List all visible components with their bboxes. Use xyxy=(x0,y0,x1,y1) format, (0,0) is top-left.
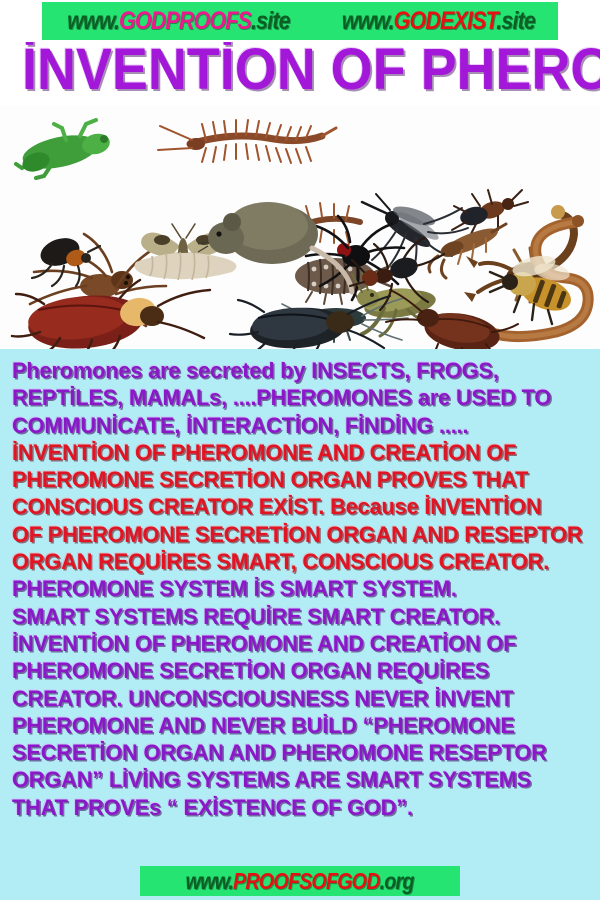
url-proofsofgod[interactable]: www.PROOFSOFGOD.org xyxy=(186,870,414,893)
url-suffix: .site xyxy=(496,7,535,35)
message-line: SMART SYSTEMS REQUİRE SMART CREATOR. xyxy=(12,603,594,630)
message-line: CONSCIOUS CREATOR EXİST. Because İNVENTİ… xyxy=(12,493,594,520)
message-lines: Pheromones are secreted by INSECTS, FROG… xyxy=(12,357,600,821)
message-line: COMMUNİCATE, İNTERACTİON, FİNDİNG ..... xyxy=(12,412,594,439)
flea-icon-2 xyxy=(32,233,100,286)
top-url-banner: www.GODPROOFS.site www.GODEXIST.site xyxy=(42,2,558,40)
bee-icon-2 xyxy=(490,252,576,324)
url-prefix: www. xyxy=(342,7,394,35)
url-brand: GODPROOFS xyxy=(119,7,251,35)
url-suffix: .site xyxy=(251,7,290,35)
message-line: REPTİLES, MAMALs, ....PHEROMONES are USE… xyxy=(12,384,594,411)
message-line: PHEROMONE SYSTEM İS SMART SYSTEM. xyxy=(12,575,594,602)
message-line: CREATOR. UNCONSCIOUSNESS NEVER İNVENT xyxy=(12,685,594,712)
message-panel: Pheromones are secreted by INSECTS, FROG… xyxy=(0,349,600,900)
message-line: PHEROMONE SECRETİON ORGAN PROVES THAT xyxy=(12,466,594,493)
message-line: SECRETİON ORGAN AND PHEROMONE RESEPTOR xyxy=(12,739,594,766)
message-line: İNVENTİON OF PHEROMONE AND CREATİON OF xyxy=(12,439,594,466)
message-line: ORGAN” LİVİNG SYSTEMS ARE SMART SYSTEMS xyxy=(12,766,594,793)
ant-lower-icon xyxy=(350,238,444,310)
collage-illustration-layer2 xyxy=(0,106,600,349)
cockroach-small-icon xyxy=(386,290,518,349)
message-line: Pheromones are secreted by INSECTS, FROG… xyxy=(12,357,594,384)
url-brand: PROOFSOFGOD xyxy=(233,868,380,894)
cockroach-red-icon-2 xyxy=(12,280,210,349)
cockroach-dark-icon xyxy=(230,296,390,349)
message-line: İNVENTİON OF PHEROMONE AND CREATİON OF xyxy=(12,630,594,657)
page-title: İNVENTİON OF PHEROMONEs xyxy=(22,42,600,102)
message-line: THAT PROVEs “ EXİSTENCE OF GOD”. xyxy=(12,794,594,821)
title-area: İNVENTİON OF PHEROMONEs xyxy=(0,42,600,106)
url-brand: GODEXIST xyxy=(394,7,497,35)
message-line: OF PHEROMONE SECRETİON ORGAN AND RESEPTO… xyxy=(12,521,594,548)
message-line: ORGAN REQUİRES SMART, CONSCIOUS CREATOR. xyxy=(12,548,594,575)
url-prefix: www. xyxy=(186,868,233,894)
bottom-url-banner: www.PROOFSOFGOD.org xyxy=(140,866,460,896)
url-prefix: www. xyxy=(67,7,119,35)
message-line: PHEROMONE AND NEVER BUİLD “PHEROMONE xyxy=(12,712,594,739)
url-godproofs[interactable]: www.GODPROOFS.site xyxy=(67,9,290,34)
url-suffix: .org xyxy=(380,868,414,894)
creature-collage xyxy=(0,106,600,349)
message-line: PHEROMONE SECRETİON ORGAN REQUİRES xyxy=(12,657,594,684)
url-godexist[interactable]: www.GODEXIST.site xyxy=(342,9,535,34)
